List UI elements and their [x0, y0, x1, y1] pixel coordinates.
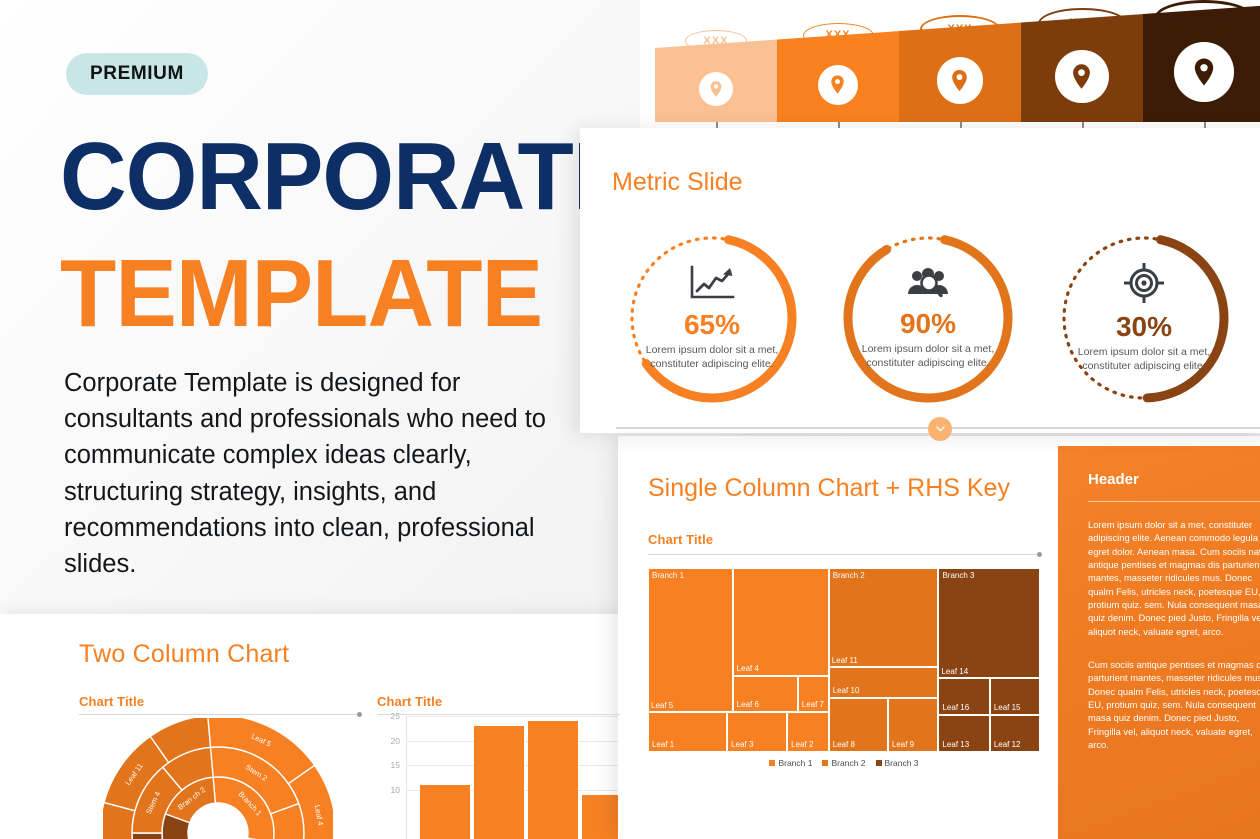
- treemap-cell-label: Leaf 2: [791, 740, 813, 749]
- map-pin-icon: [946, 67, 973, 94]
- treemap-cell-label: Leaf 15: [994, 703, 1021, 712]
- target-crosshair-icon: [1124, 263, 1164, 308]
- audience-search-icon: [905, 266, 951, 300]
- treemap-rule-dot: [1037, 552, 1042, 557]
- treemap-cell[interactable]: Leaf 14: [938, 568, 1040, 678]
- treemap-cell[interactable]: Leaf 7: [798, 676, 829, 712]
- timeline-label-bubble[interactable]: XXX: [1038, 8, 1127, 39]
- legend-swatch: [822, 760, 828, 766]
- treemap-cell-label: Leaf 5: [651, 701, 673, 710]
- rhs-header-rule: [1088, 501, 1260, 502]
- treemap-cell[interactable]: Leaf 2: [787, 712, 829, 752]
- hero-title-line-2: TEMPLATE: [60, 254, 542, 334]
- metric-ring: 65%Lorem ipsum dolor sit a met, constitu…: [622, 228, 802, 408]
- line-chart-growth-icon: [689, 265, 735, 306]
- timeline-label-bubble[interactable]: XXX: [920, 15, 1000, 43]
- legend-item[interactable]: Branch 2: [822, 758, 865, 768]
- legend-label: Branch 3: [885, 758, 919, 768]
- treemap-cell[interactable]: Leaf 4: [733, 568, 829, 676]
- rhs-header: Header: [1088, 471, 1139, 488]
- treemap-cell[interactable]: Leaf 9: [888, 698, 939, 752]
- metric-description: Lorem ipsum dolor sit a met, constituter…: [643, 343, 781, 371]
- treemap-cell[interactable]: Leaf 3: [727, 712, 787, 752]
- map-pin-icon: [826, 73, 849, 96]
- target-crosshair-icon: [1124, 263, 1164, 303]
- timeline-label-text: XXX: [825, 29, 850, 41]
- treemap-cell-label: Leaf 12: [994, 740, 1021, 749]
- treemap-cell-label: Leaf 14: [941, 667, 968, 676]
- timeline-banner: XXX XXX XXX XXX XXX: [640, 0, 1260, 135]
- metric-percent: 30%: [1116, 312, 1172, 343]
- single-column-chart-card: Single Column Chart + RHS Key Chart Titl…: [618, 436, 1260, 839]
- audience-search-icon: [905, 266, 951, 305]
- timeline-label-bubble[interactable]: XXX: [1155, 0, 1253, 34]
- metric-description: Lorem ipsum dolor sit a met, constituter…: [1075, 345, 1213, 373]
- metric-content: 65%Lorem ipsum dolor sit a met, constitu…: [622, 228, 802, 408]
- treemap-cell[interactable]: Leaf 8: [829, 698, 888, 752]
- treemap-cell-label: Leaf 16: [942, 703, 969, 712]
- timeline-pin-marker[interactable]: [1055, 50, 1108, 103]
- treemap-cell-label: Leaf 8: [833, 740, 855, 749]
- treemap-cell[interactable]: Leaf 6: [733, 676, 798, 712]
- treemap-title-rule: [648, 554, 1040, 555]
- timeline-pin-marker[interactable]: [1174, 42, 1234, 102]
- treemap-legend: Branch 1Branch 2Branch 3: [648, 758, 1040, 768]
- premium-badge: PREMIUM: [66, 53, 208, 95]
- treemap-cell-label: Leaf 7: [802, 700, 824, 709]
- metric-slide-title: Metric Slide: [612, 168, 743, 197]
- hero-body-text: Corporate Template is designed for consu…: [64, 365, 564, 582]
- map-pin-icon: [706, 79, 726, 99]
- treemap-cell-label: Leaf 11: [832, 656, 858, 665]
- timeline-label-text: XXX: [1069, 17, 1094, 29]
- metric-percent: 65%: [684, 310, 740, 341]
- bar-chart-title: Chart Title: [377, 694, 442, 709]
- timeline-label-text: XXX: [947, 23, 972, 35]
- timeline-pin-marker[interactable]: [699, 72, 733, 106]
- treemap-cell-label: Leaf 1: [652, 740, 674, 749]
- legend-swatch: [769, 760, 775, 766]
- metric-content: 30%Lorem ipsum dolor sit a met, constitu…: [1054, 228, 1234, 408]
- legend-item[interactable]: Branch 1: [769, 758, 812, 768]
- treemap-cell-label: Leaf 6: [737, 700, 759, 709]
- rhs-paragraph-2: Cum sociis antique pentises et magmas di…: [1088, 658, 1260, 751]
- hero-title-line-1: CORPORATE: [60, 137, 633, 217]
- treemap-cell-label: Leaf 3: [731, 740, 753, 749]
- treemap-cell[interactable]: Leaf 10: [829, 667, 939, 697]
- treemap-cell-label: Leaf 9: [892, 740, 914, 749]
- timeline-label-bubble[interactable]: XXX: [803, 23, 874, 48]
- timeline-label-bubble[interactable]: XXX: [685, 30, 747, 52]
- treemap-cell[interactable]: Leaf 1: [648, 712, 727, 752]
- map-pin-icon: [1066, 61, 1097, 92]
- treemap-cell[interactable]: Leaf 13: [938, 715, 989, 752]
- treemap-chart-title: Chart Title: [648, 532, 713, 547]
- treemap-cell[interactable]: Leaf 15: [990, 678, 1040, 715]
- rhs-paragraph-1: Lorem ipsum dolor sit a met, constituter…: [1088, 518, 1260, 638]
- treemap-cell[interactable]: Leaf 11: [829, 568, 939, 667]
- rhs-key-panel: Header Lorem ipsum dolor sit a met, cons…: [1058, 446, 1260, 839]
- metric-ring: 30%Lorem ipsum dolor sit a met, constitu…: [1054, 228, 1234, 408]
- legend-label: Branch 2: [831, 758, 865, 768]
- bar-title-rule: [377, 714, 620, 715]
- sunburst-title-rule: [79, 714, 361, 715]
- map-pin-icon: [1187, 55, 1221, 89]
- metric-percent: 90%: [900, 309, 956, 340]
- chevron-down-icon[interactable]: [928, 417, 952, 441]
- metric-slide-card: Metric Slide 65%Lorem ipsum dolor sit a …: [580, 128, 1260, 433]
- legend-swatch: [876, 760, 882, 766]
- single-column-slide-title: Single Column Chart + RHS Key: [648, 474, 1010, 503]
- metric-description: Lorem ipsum dolor sit a met, constituter…: [859, 342, 997, 370]
- treemap-cell-label: Leaf 13: [942, 740, 969, 749]
- treemap-cell-label: Leaf 4: [737, 664, 759, 673]
- legend-label: Branch 1: [778, 758, 812, 768]
- treemap-cell[interactable]: Leaf 12: [990, 715, 1040, 752]
- treemap-cell-label: Leaf 10: [833, 686, 860, 695]
- treemap-cell[interactable]: Leaf 5: [648, 568, 733, 712]
- sunburst-rule-dot: [357, 712, 362, 717]
- timeline-pin-marker[interactable]: [937, 57, 984, 104]
- legend-item[interactable]: Branch 3: [876, 758, 919, 768]
- timeline-pin-marker[interactable]: [818, 65, 858, 105]
- metric-ring: 90%Lorem ipsum dolor sit a met, constitu…: [838, 228, 1018, 408]
- treemap-chart: Branch 1Leaf 5Leaf 4Leaf 6Leaf 7Leaf 1Le…: [648, 568, 1040, 752]
- sunburst-chart-title: Chart Title: [79, 694, 144, 709]
- line-chart-growth-icon: [689, 265, 735, 301]
- timeline-label-text: XXX: [1191, 11, 1216, 23]
- treemap-cell[interactable]: Leaf 16: [938, 678, 989, 715]
- metric-content: 90%Lorem ipsum dolor sit a met, constitu…: [838, 228, 1018, 408]
- timeline-label-text: XXX: [703, 35, 728, 47]
